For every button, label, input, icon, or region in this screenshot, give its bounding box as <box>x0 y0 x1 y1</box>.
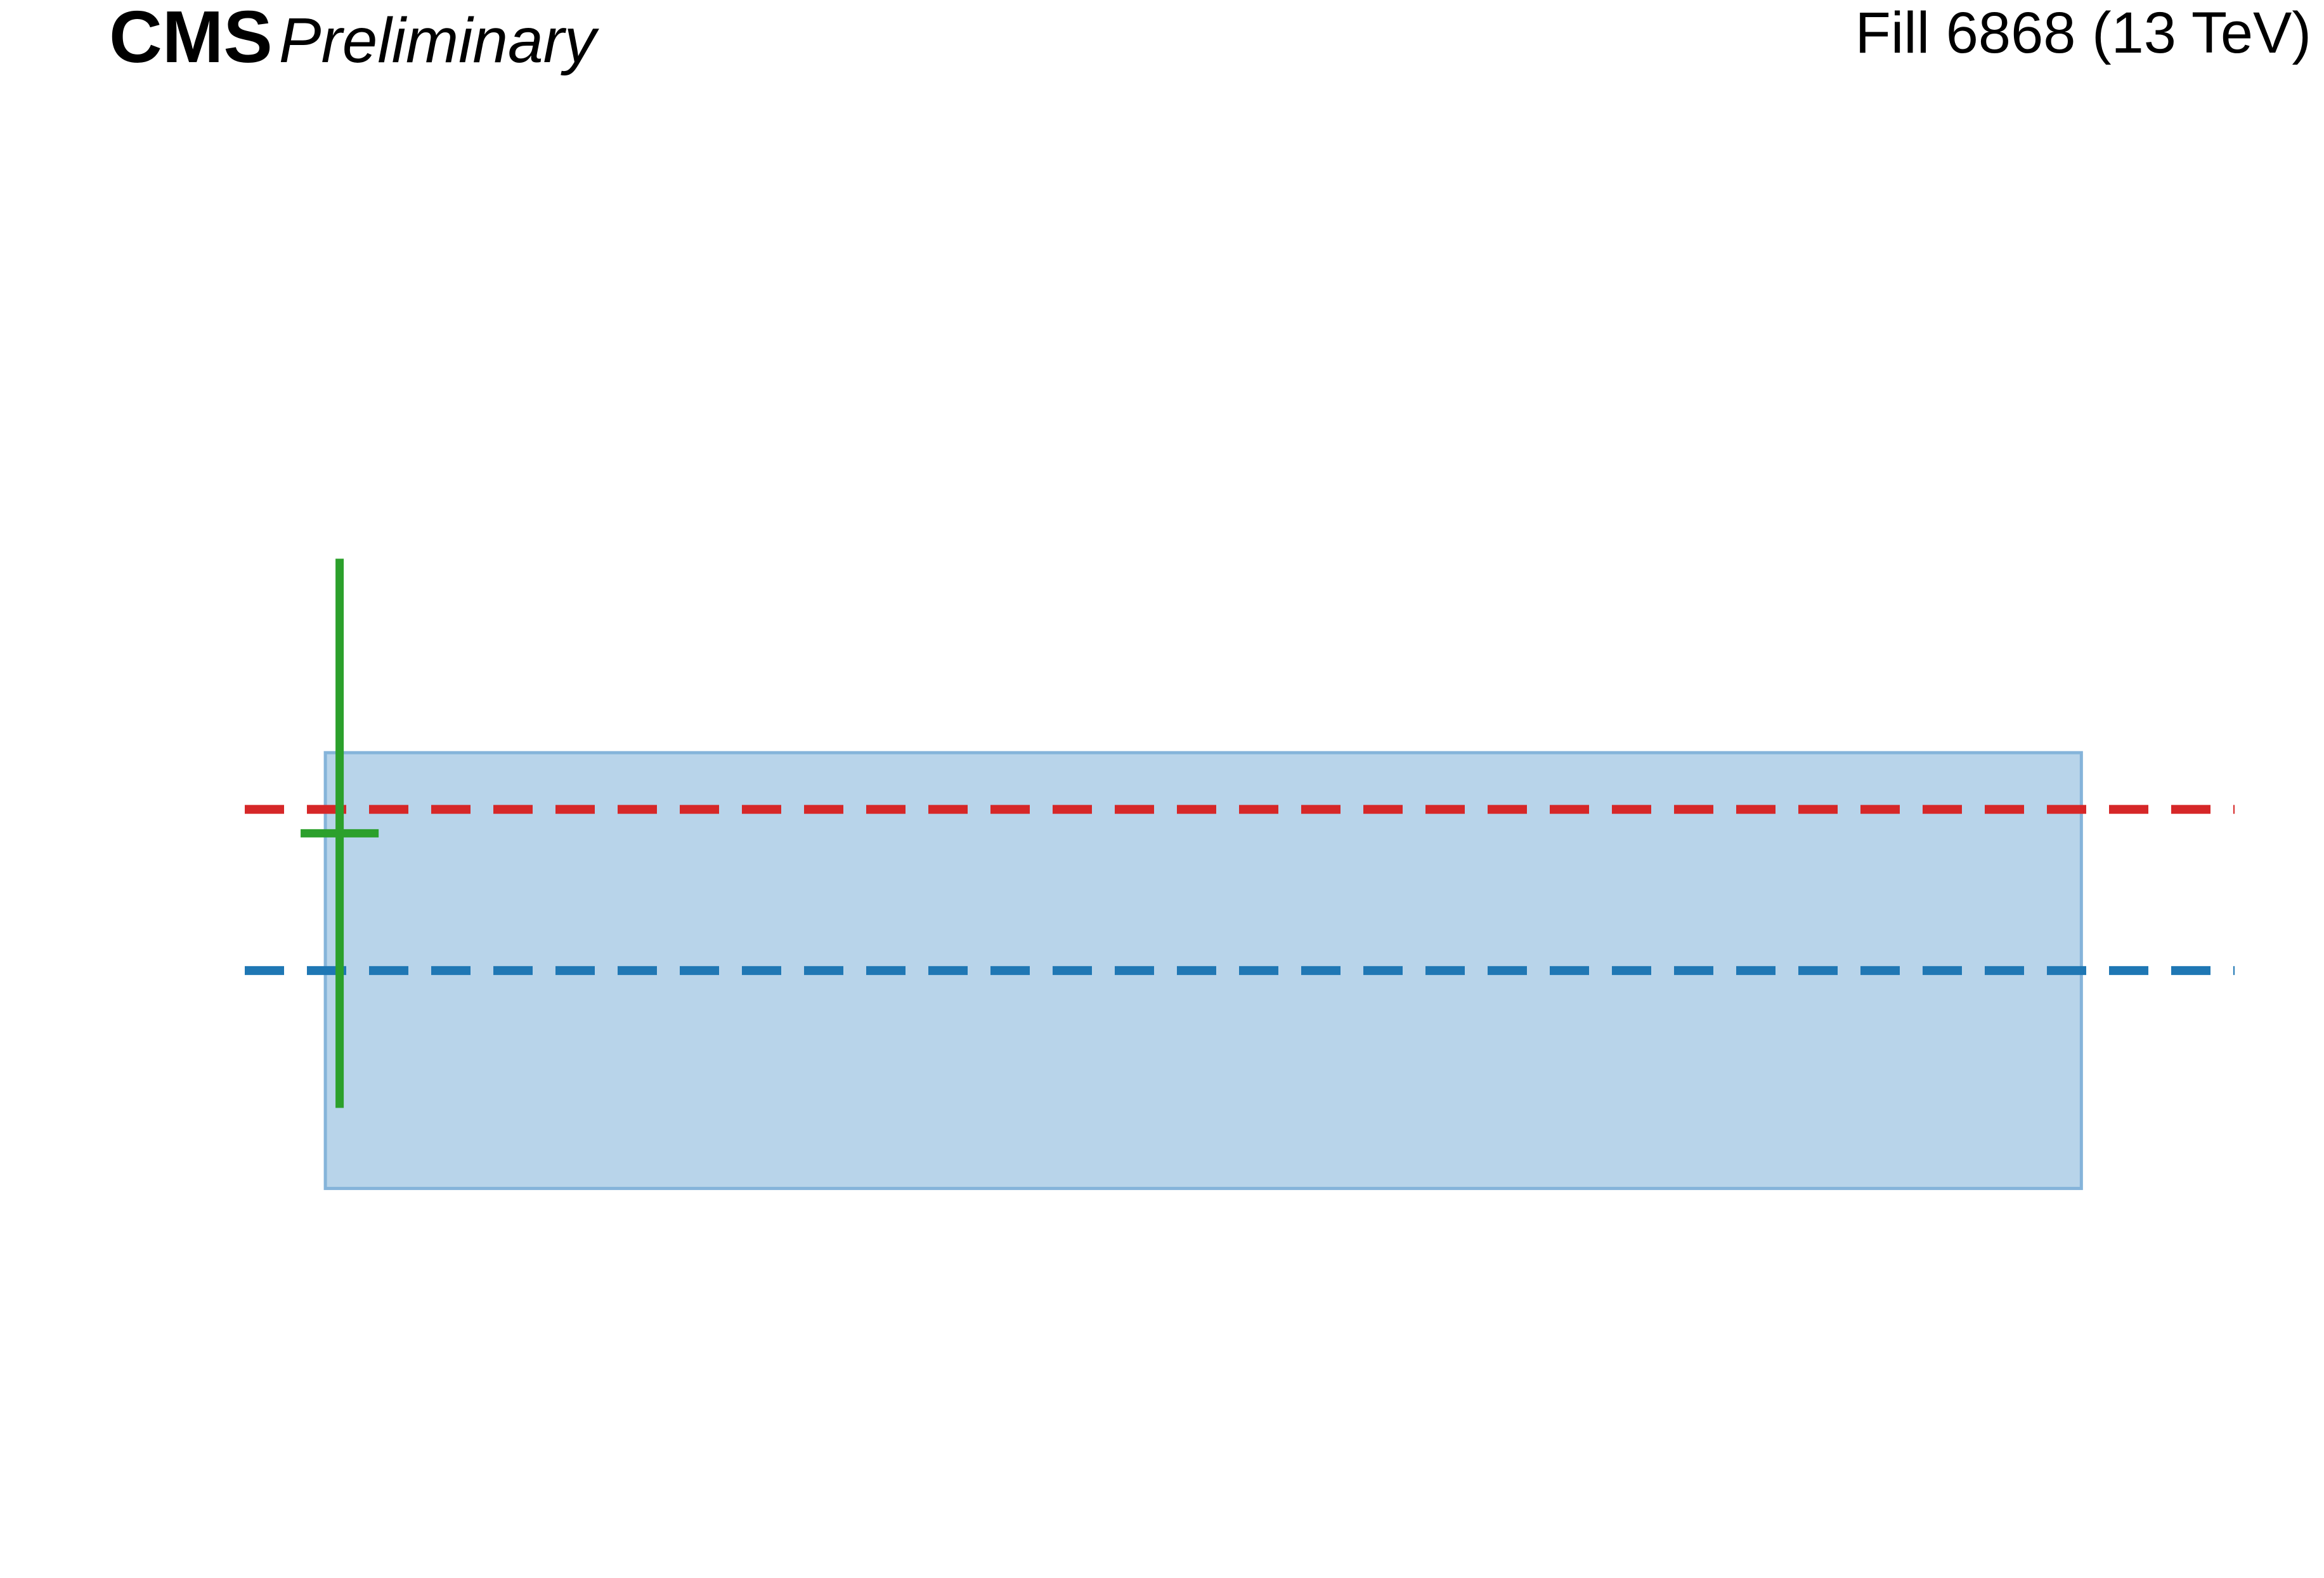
fill-energy-label: Fill 6868 (13 TeV) <box>1855 4 2311 62</box>
plot-root: CMS Preliminary Fill 6868 (13 TeV) <box>0 0 2324 1578</box>
mean-band-layer <box>245 753 2235 1188</box>
cms-header: CMS Preliminary <box>109 0 596 74</box>
preliminary-label: Preliminary <box>279 9 596 72</box>
cms-logo-text: CMS <box>109 0 273 74</box>
chart-canvas <box>0 0 2324 1578</box>
